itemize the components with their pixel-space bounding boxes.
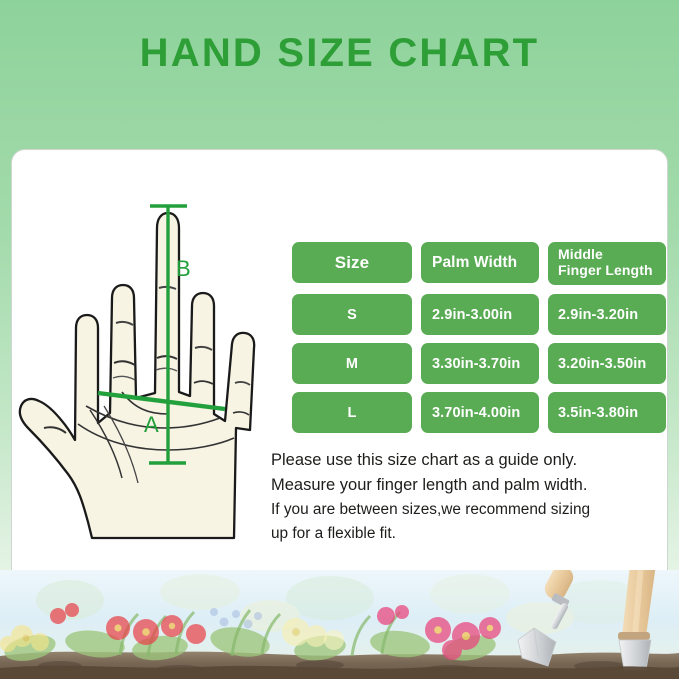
cell-middle-finger-length: 2.9in-3.20in bbox=[548, 294, 666, 335]
garden-footer-image bbox=[0, 570, 679, 679]
cell-size: L bbox=[292, 392, 412, 433]
table-row: L 3.70in-4.00in 3.5in-3.80in bbox=[292, 392, 666, 433]
table-header-row: Size Palm Width Middle Finger Length bbox=[292, 242, 666, 285]
hand-illustration bbox=[20, 213, 254, 538]
cell-size: M bbox=[292, 343, 412, 384]
hand-diagram: B A bbox=[18, 178, 286, 578]
cell-middle-finger-length: 3.5in-3.80in bbox=[548, 392, 666, 433]
cell-palm-width: 3.70in-4.00in bbox=[421, 392, 539, 433]
header-middle-finger-length-line2: Finger Length bbox=[558, 262, 666, 278]
header-size: Size bbox=[292, 242, 412, 283]
page-title: HAND SIZE CHART bbox=[0, 31, 679, 76]
header-middle-finger-length-line1: Middle bbox=[558, 246, 666, 262]
cell-size: S bbox=[292, 294, 412, 335]
note-line-4: up for a flexible fit. bbox=[271, 522, 666, 546]
header-middle-finger-length: Middle Finger Length bbox=[548, 242, 666, 285]
content-card: B A Size Palm Width Middle Finger Length… bbox=[11, 149, 668, 583]
table-row: S 2.9in-3.00in 2.9in-3.20in bbox=[292, 294, 666, 335]
measure-label-a: A bbox=[144, 412, 159, 437]
note-line-2: Measure your finger length and palm widt… bbox=[271, 473, 666, 498]
cell-palm-width: 2.9in-3.00in bbox=[421, 294, 539, 335]
table-row: M 3.30in-3.70in 3.20in-3.50in bbox=[292, 343, 666, 384]
measure-label-b: B bbox=[176, 256, 191, 281]
cell-palm-width: 3.30in-3.70in bbox=[421, 343, 539, 384]
guidance-notes: Please use this size chart as a guide on… bbox=[271, 448, 666, 546]
note-line-3: If you are between sizes,we recommend si… bbox=[271, 498, 666, 522]
hand-size-chart-page: HAND SIZE CHART bbox=[0, 0, 679, 679]
note-line-1: Please use this size chart as a guide on… bbox=[271, 448, 666, 473]
size-table: Size Palm Width Middle Finger Length S 2… bbox=[292, 242, 666, 441]
cell-middle-finger-length: 3.20in-3.50in bbox=[548, 343, 666, 384]
header-palm-width: Palm Width bbox=[421, 242, 539, 283]
